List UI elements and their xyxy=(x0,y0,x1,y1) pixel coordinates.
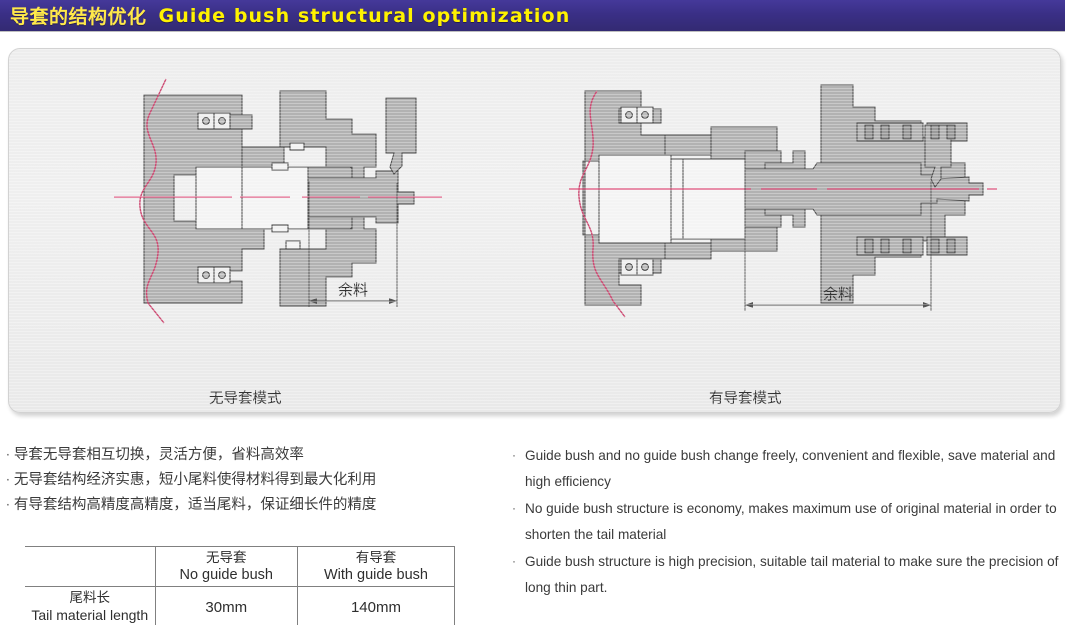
bullet-text: 导套无导套相互切换，灵活方便，省料高效率 xyxy=(14,447,304,463)
table-header-no-guide-bush: 无导套 No guide bush xyxy=(155,547,297,587)
table-row: 尾料长 Tail material length 30mm 140mm xyxy=(25,587,455,625)
diagram-with-guide-bush: 余料 xyxy=(569,63,999,331)
page-title-bar: 导套的结构优化 Guide bush structural optimizati… xyxy=(0,0,1065,31)
bullet-text: No guide bush structure is economy, make… xyxy=(525,501,1057,542)
row-label-cn: 尾料长 xyxy=(29,590,151,607)
table-header-en: With guide bush xyxy=(302,567,450,584)
bullet-item: ·有导套结构高精度高精度，适当尾料，保证细长件的精度 xyxy=(6,493,486,518)
table-header-cn: 有导套 xyxy=(302,550,450,567)
table-header-cn: 无导套 xyxy=(160,550,293,567)
bullet-item: ·Guide bush and no guide bush change fre… xyxy=(512,443,1072,494)
bullet-marker-icon: · xyxy=(512,549,516,575)
bullet-list-chinese: ·导套无导套相互切换，灵活方便，省料高效率 ·无导套结构经济实惠，短小尾料使得材… xyxy=(6,443,486,518)
table-cell-with-guide-bush-value: 140mm xyxy=(297,587,454,625)
bullet-text: Guide bush and no guide bush change free… xyxy=(525,448,1055,489)
bullet-marker-icon: · xyxy=(512,443,516,469)
bullet-text: 无导套结构经济实惠，短小尾料使得材料得到最大化利用 xyxy=(14,472,377,488)
diagram-no-guide-bush: 余料 xyxy=(114,71,444,326)
figure-panel: 余料 xyxy=(8,48,1061,413)
row-label-en: Tail material length xyxy=(29,607,151,624)
caption-with-guide-bush: 有导套模式 xyxy=(709,387,782,408)
bullet-item: ·无导套结构经济实惠，短小尾料使得材料得到最大化利用 xyxy=(6,468,486,493)
table-corner-cell xyxy=(25,547,155,587)
slide-page: 导套的结构优化 Guide bush structural optimizati… xyxy=(0,0,1074,625)
caption-no-guide-bush: 无导套模式 xyxy=(209,387,282,408)
table-row: 无导套 No guide bush 有导套 With guide bush xyxy=(25,547,455,587)
bullet-marker-icon: · xyxy=(6,498,10,512)
bullet-text: 有导套结构高精度高精度，适当尾料，保证细长件的精度 xyxy=(14,497,377,513)
dimension-label-left: 余料 xyxy=(338,281,368,299)
table-cell-no-guide-bush-value: 30mm xyxy=(155,587,297,625)
dimension-label-right: 余料 xyxy=(823,285,853,303)
page-title-chinese: 导套的结构优化 xyxy=(10,2,147,29)
tail-material-table: 无导套 No guide bush 有导套 With guide bush 尾料… xyxy=(25,546,455,625)
bullet-marker-icon: · xyxy=(6,473,10,487)
bullet-item: ·Guide bush structure is high precision,… xyxy=(512,549,1072,600)
bullet-text: Guide bush structure is high precision, … xyxy=(525,554,1058,595)
table-header-with-guide-bush: 有导套 With guide bush xyxy=(297,547,454,587)
bullet-item: ·No guide bush structure is economy, mak… xyxy=(512,496,1072,547)
bullet-marker-icon: · xyxy=(512,496,516,522)
bullet-item: ·导套无导套相互切换，灵活方便，省料高效率 xyxy=(6,443,486,468)
bullet-list-english: ·Guide bush and no guide bush change fre… xyxy=(512,443,1072,602)
table-header-en: No guide bush xyxy=(160,567,293,584)
bullet-marker-icon: · xyxy=(6,448,10,462)
page-title-english: Guide bush structural optimization xyxy=(159,5,571,27)
table-row-label-tail-material-length: 尾料长 Tail material length xyxy=(25,587,155,625)
